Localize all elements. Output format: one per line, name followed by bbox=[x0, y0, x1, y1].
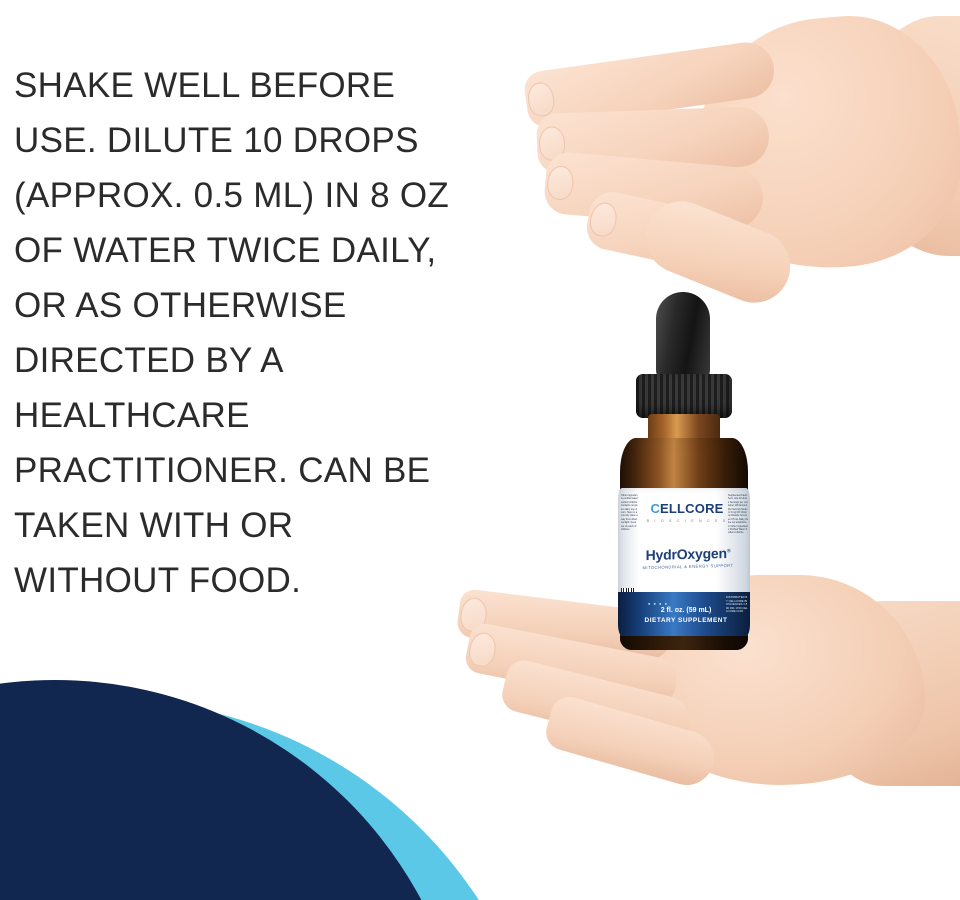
band-dots: ● ● ● ● bbox=[648, 601, 668, 606]
fingernail bbox=[466, 630, 498, 668]
dietary-supplement-label: DIETARY SUPPLEMENT bbox=[640, 617, 732, 624]
net-volume: 2 fl. oz. (59 mL) bbox=[640, 607, 732, 614]
fingernail bbox=[587, 200, 620, 239]
upper-hand bbox=[525, 8, 955, 328]
navy-circle-shape bbox=[0, 680, 470, 900]
fingernail bbox=[526, 81, 556, 118]
dropper-bulb bbox=[656, 292, 710, 382]
label-blue-band: ● ● ● ● 2 fl. oz. (59 mL) DIETARY SUPPLE… bbox=[618, 592, 750, 636]
trademark-symbol: ® bbox=[727, 548, 730, 554]
marketing-graphic-canvas: SHAKE WELL BEFORE USE. DILUTE 10 DROPS (… bbox=[0, 0, 960, 900]
brand-lockup: CELLCORE B I O S C I E N C E S bbox=[644, 500, 730, 523]
product-name-label: HydrOxygen bbox=[646, 545, 727, 563]
product-name-text: HydrOxygen® bbox=[640, 545, 736, 564]
distributor-info: DISTRIBUTED BY CELLCORE BIOSCIENCES 1 80… bbox=[726, 596, 748, 614]
product-name-block: HydrOxygen® MITOCHONDRIAL & ENERGY SUPPO… bbox=[640, 546, 736, 569]
bottle-cap-collar bbox=[636, 374, 732, 418]
product-photo: Other ingredients purified water sodium … bbox=[430, 0, 960, 830]
brand-name-rest: ELLCORE bbox=[660, 501, 724, 516]
brand-name: CELLCORE bbox=[650, 501, 723, 516]
brand-c-glyph: C bbox=[650, 501, 660, 516]
brand-subtitle: B I O S C I E N C E S bbox=[644, 519, 730, 523]
fingernail bbox=[546, 165, 575, 201]
dropper-bottle: Other ingredients purified water sodium … bbox=[608, 292, 760, 657]
product-tagline: MITOCHONDRIAL & ENERGY SUPPORT bbox=[640, 563, 736, 571]
product-label: Other ingredients purified water sodium … bbox=[618, 488, 750, 636]
